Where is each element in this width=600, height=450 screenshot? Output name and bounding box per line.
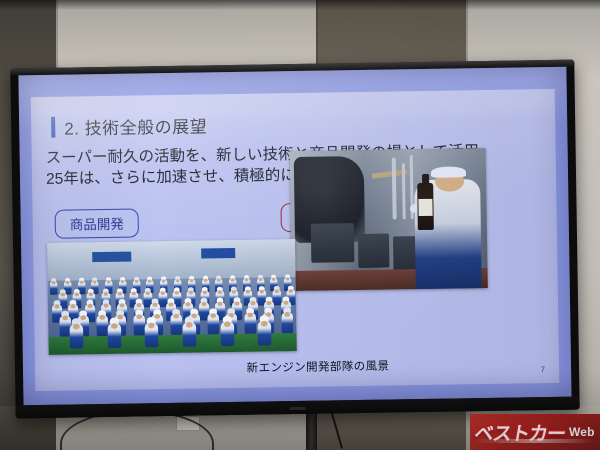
lab-machine-1 — [310, 223, 354, 263]
crowd-person — [107, 323, 121, 348]
crowd-person — [207, 313, 219, 334]
bottle-label — [419, 199, 433, 216]
crowd-person — [96, 315, 108, 336]
tv-screen: 2. 技術全般の展望 スーパー耐久の活動を、新しい技術と商品開発の場として活用。… — [18, 67, 571, 406]
screenshot-scene: 2. 技術全般の展望 スーパー耐久の活動を、新しい技術と商品開発の場として活用。… — [0, 0, 600, 450]
photo-development-team-group — [47, 239, 297, 355]
lab-machine-2 — [358, 234, 390, 268]
title-accent-bar — [51, 117, 55, 138]
crowd-person — [133, 314, 145, 335]
crowd-person — [170, 314, 182, 335]
crowd-person — [244, 313, 256, 334]
crowd-person — [183, 322, 197, 347]
photo-engineer-holding-bottle — [290, 148, 488, 291]
ceiling-shadow — [0, 0, 600, 10]
watermark-swoosh — [476, 439, 595, 443]
engineer-cap — [431, 166, 466, 178]
crowd-person — [220, 321, 234, 346]
slide-title-row: 2. 技術全般の展望 — [51, 112, 207, 139]
watermark-web-label: Web — [569, 425, 595, 439]
tv-stand-pole — [306, 408, 317, 450]
group-photo-crowd — [47, 239, 297, 355]
page-title: 2. 技術全般の展望 — [64, 112, 207, 139]
slide-page-number: 7 — [541, 365, 546, 374]
watermark-content: ベストカー Web — [470, 414, 600, 450]
crowd-person — [145, 323, 159, 348]
crowd-person — [50, 281, 58, 295]
tag-product-development: 商品開発 — [55, 208, 139, 238]
crowd-person — [70, 324, 84, 349]
presentation-slide: 2. 技術全般の展望 スーパー耐久の活動を、新しい技術と商品開発の場として活用。… — [31, 89, 560, 391]
watermark-bestcar-web: ベストカー Web — [470, 414, 600, 450]
crowd-person — [258, 321, 272, 346]
tv-brand-mark — [290, 407, 306, 410]
tv-bezel: 2. 技術全般の展望 スーパー耐久の活動を、新しい技術と商品開発の場として活用。… — [10, 60, 579, 419]
crowd-person — [281, 312, 293, 333]
photo-caption: 新エンジン開発部隊の風景 — [35, 355, 559, 379]
television: 2. 技術全般の展望 スーパー耐久の活動を、新しい技術と商品開発の場として活用。… — [10, 60, 579, 419]
